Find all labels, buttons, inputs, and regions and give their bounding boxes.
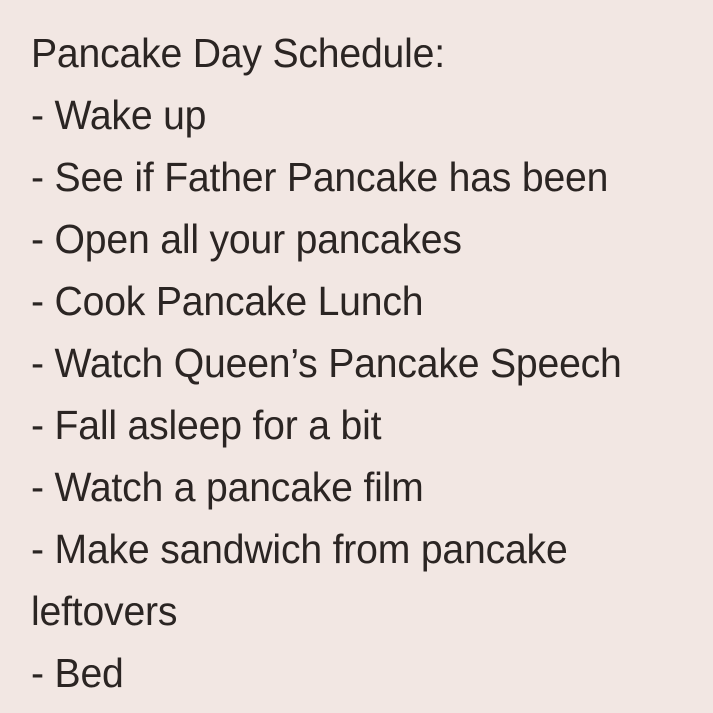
list-item: - Cook Pancake Lunch xyxy=(31,270,661,332)
list-item: - Open all your pancakes xyxy=(31,208,661,270)
list-item: - Watch a pancake film xyxy=(31,456,661,518)
list-item: - See if Father Pancake has been xyxy=(31,146,661,208)
list-item-wrapped-continuation: leftovers xyxy=(31,580,661,642)
meme-image-card: Pancake Day Schedule: - Wake up - See if… xyxy=(0,0,713,713)
schedule-text-block: Pancake Day Schedule: - Wake up - See if… xyxy=(31,22,691,704)
list-item: - Watch Queen’s Pancake Speech xyxy=(31,332,661,394)
list-item: - Fall asleep for a bit xyxy=(31,394,661,456)
list-item: - Wake up xyxy=(31,84,661,146)
list-item: - Bed xyxy=(31,642,661,704)
list-item: - Make sandwich from pancake xyxy=(31,518,661,580)
page-title: Pancake Day Schedule: xyxy=(31,22,661,84)
